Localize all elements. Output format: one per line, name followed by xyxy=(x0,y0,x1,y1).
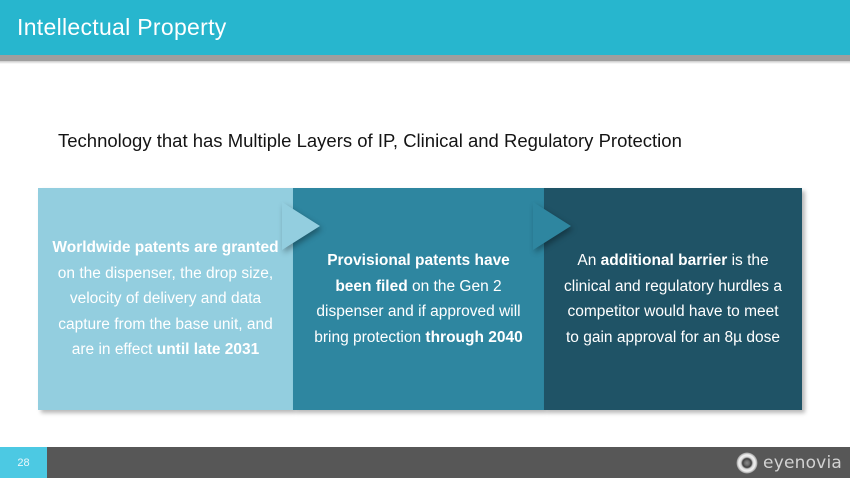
brand-logo: eyenovia xyxy=(736,447,842,478)
chevron-band: Worldwide patents are granted on the dis… xyxy=(38,188,802,410)
page-number: 28 xyxy=(17,457,29,469)
chevron-box-text: Provisional patents have been filed on t… xyxy=(311,248,526,350)
eye-ring-icon xyxy=(736,452,758,474)
chevron-box-additional-barrier: An additional barrier is the clinical an… xyxy=(544,188,802,410)
chevron-box-text: An additional barrier is the clinical an… xyxy=(564,248,782,350)
chevron-box-text: Worldwide patents are granted on the dis… xyxy=(52,235,279,363)
page-title: Intellectual Property xyxy=(17,14,227,41)
footer-bar xyxy=(0,447,850,478)
chevron-box-provisional-patents: Provisional patents have been filed on t… xyxy=(293,188,544,410)
chevron-arrow-icon xyxy=(282,202,320,250)
page-number-chip: 28 xyxy=(0,447,47,478)
slide-subtitle: Technology that has Multiple Layers of I… xyxy=(58,130,798,152)
brand-name: eyenovia xyxy=(763,453,842,473)
chevron-box-worldwide-patents: Worldwide patents are granted on the dis… xyxy=(38,188,293,410)
chevron-arrow-icon xyxy=(533,202,571,250)
header-divider-shadow xyxy=(0,61,850,64)
